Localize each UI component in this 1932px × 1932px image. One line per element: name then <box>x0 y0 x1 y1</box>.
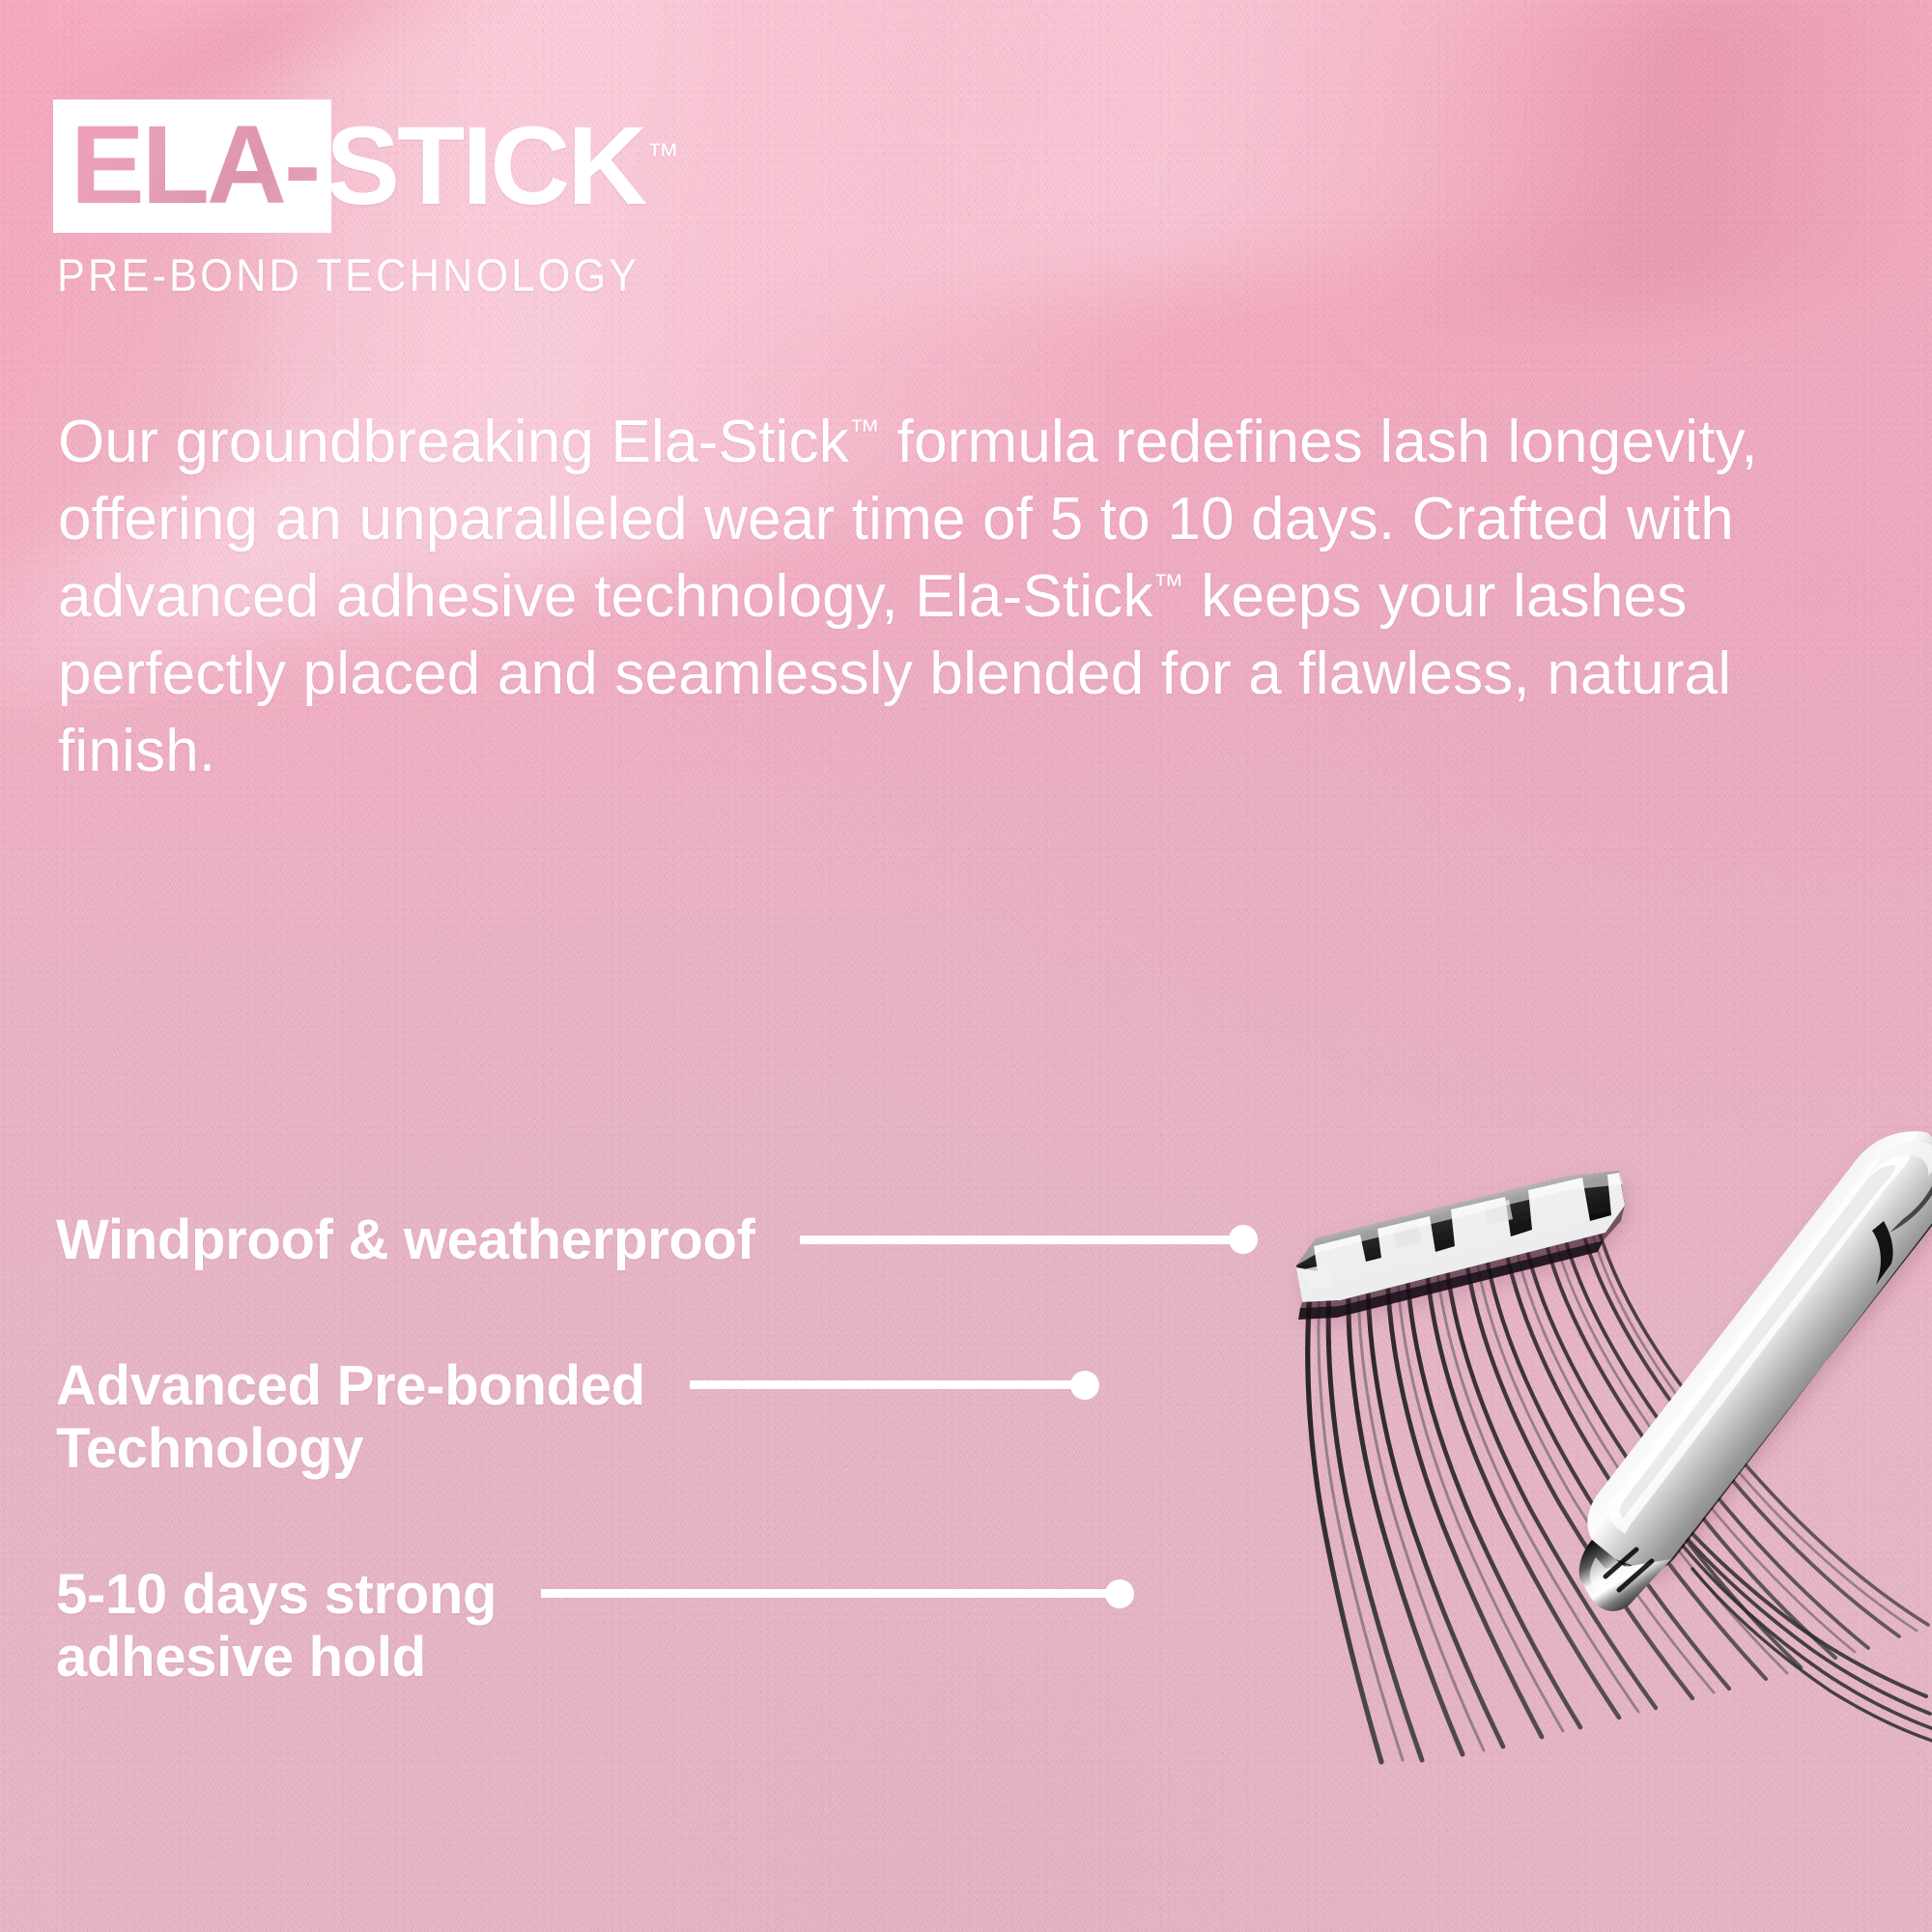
feature-item-windproof: Windproof & weatherproof <box>56 1209 1408 1272</box>
description-paragraph: Our groundbreaking Ela-Stick™ formula re… <box>58 404 1845 790</box>
logo-ela-text: ELA- <box>71 113 318 217</box>
connector-line <box>541 1589 1107 1598</box>
inline-trademark-1: ™ <box>849 412 880 447</box>
paragraph-segment-1: Our groundbreaking Ela-Stick <box>58 409 849 475</box>
brand-logo: ELA- STICK™ PRE-BOND TECHNOLOGY <box>53 99 691 301</box>
feature-connector <box>645 1355 1099 1415</box>
logo-stick-text: STICK <box>326 104 644 228</box>
connector-dot-icon <box>1070 1371 1099 1400</box>
logo-stick-wrap: STICK™ <box>326 99 679 233</box>
feature-label: Windproof & weatherproof <box>56 1209 755 1272</box>
feature-label: Advanced Pre-bonded Technology <box>56 1355 645 1481</box>
logo-trademark-symbol: ™ <box>646 137 679 174</box>
feature-list: Windproof & weatherproof Advanced Pre-bo… <box>56 1209 1408 1690</box>
feature-connector <box>755 1209 1258 1269</box>
tweezers <box>1579 1131 1932 1611</box>
poster-canvas: ELA- STICK™ PRE-BOND TECHNOLOGY Our grou… <box>0 0 1932 1932</box>
connector-line <box>800 1236 1231 1244</box>
feature-item-adhesive-hold: 5-10 days strong adhesive hold <box>56 1564 1408 1690</box>
content-layer: ELA- STICK™ PRE-BOND TECHNOLOGY Our grou… <box>0 0 1932 1932</box>
connector-dot-icon <box>1229 1225 1258 1254</box>
feature-label: 5-10 days strong adhesive hold <box>56 1564 497 1690</box>
logo-wordmark: ELA- STICK™ <box>53 99 691 233</box>
feature-connector <box>497 1564 1134 1624</box>
brand-subtitle: PRE-BOND TECHNOLOGY <box>57 248 639 301</box>
connector-dot-icon <box>1105 1579 1134 1608</box>
lash-fibres-right <box>1662 1499 1932 1743</box>
feature-item-prebonded: Advanced Pre-bonded Technology <box>56 1355 1408 1481</box>
logo-ela-box: ELA- <box>53 99 331 233</box>
connector-line <box>690 1380 1072 1389</box>
inline-trademark-2: ™ <box>1153 567 1184 602</box>
